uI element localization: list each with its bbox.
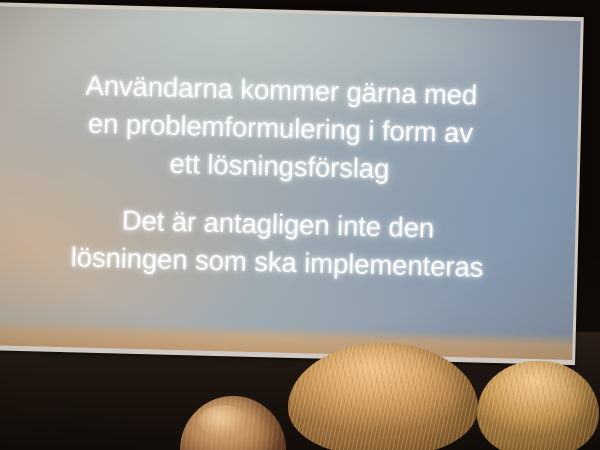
hair-texture bbox=[477, 361, 599, 450]
hair-texture bbox=[288, 343, 478, 450]
projected-slide: Användarna kommer gärna med en problemfo… bbox=[0, 6, 581, 360]
photograph: Användarna kommer gärna med en problemfo… bbox=[0, 0, 600, 450]
projection-screen: Användarna kommer gärna med en problemfo… bbox=[0, 2, 584, 365]
slide-text-block: Användarna kommer gärna med en problemfo… bbox=[0, 64, 579, 289]
bald-head-left bbox=[180, 396, 286, 450]
scalp-texture bbox=[180, 396, 286, 450]
blonde-head-right bbox=[477, 361, 599, 450]
slide-paragraph-2: Det är antagligen inte den lösningen som… bbox=[0, 198, 576, 289]
blonde-head-center bbox=[288, 343, 478, 450]
slide-paragraph-1: Användarna kommer gärna med en problemfo… bbox=[0, 64, 579, 193]
